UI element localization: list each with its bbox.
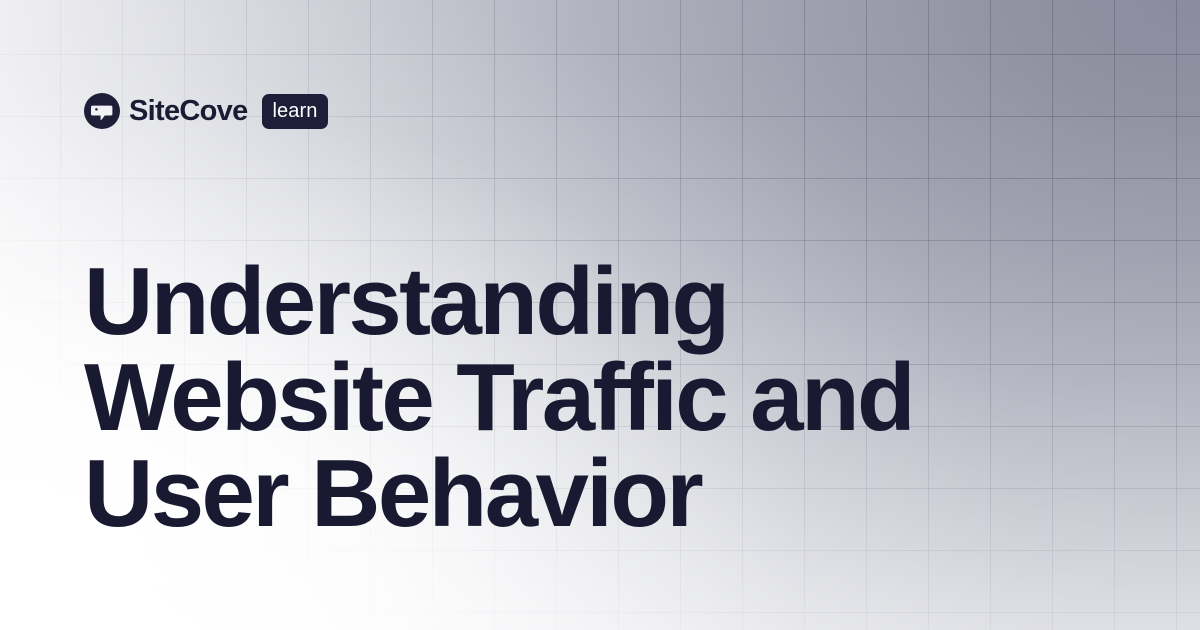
- speech-bubble-circle-icon: [84, 93, 120, 129]
- title-line-1: Understanding: [84, 254, 1064, 350]
- title-line-2: Website Traffic and: [84, 350, 1064, 446]
- title-line-3: User Behavior: [84, 446, 1064, 542]
- brand-badge-learn: learn: [262, 94, 329, 129]
- logo-mark: [84, 93, 120, 129]
- card-content: SiteCove learn Understanding Website Tra…: [0, 0, 1200, 630]
- brand-lockup: SiteCove learn: [84, 90, 328, 132]
- brand-name: SiteCove: [129, 97, 248, 126]
- page-title: Understanding Website Traffic and User B…: [84, 254, 1064, 542]
- social-card-banner: SiteCove learn Understanding Website Tra…: [0, 0, 1200, 630]
